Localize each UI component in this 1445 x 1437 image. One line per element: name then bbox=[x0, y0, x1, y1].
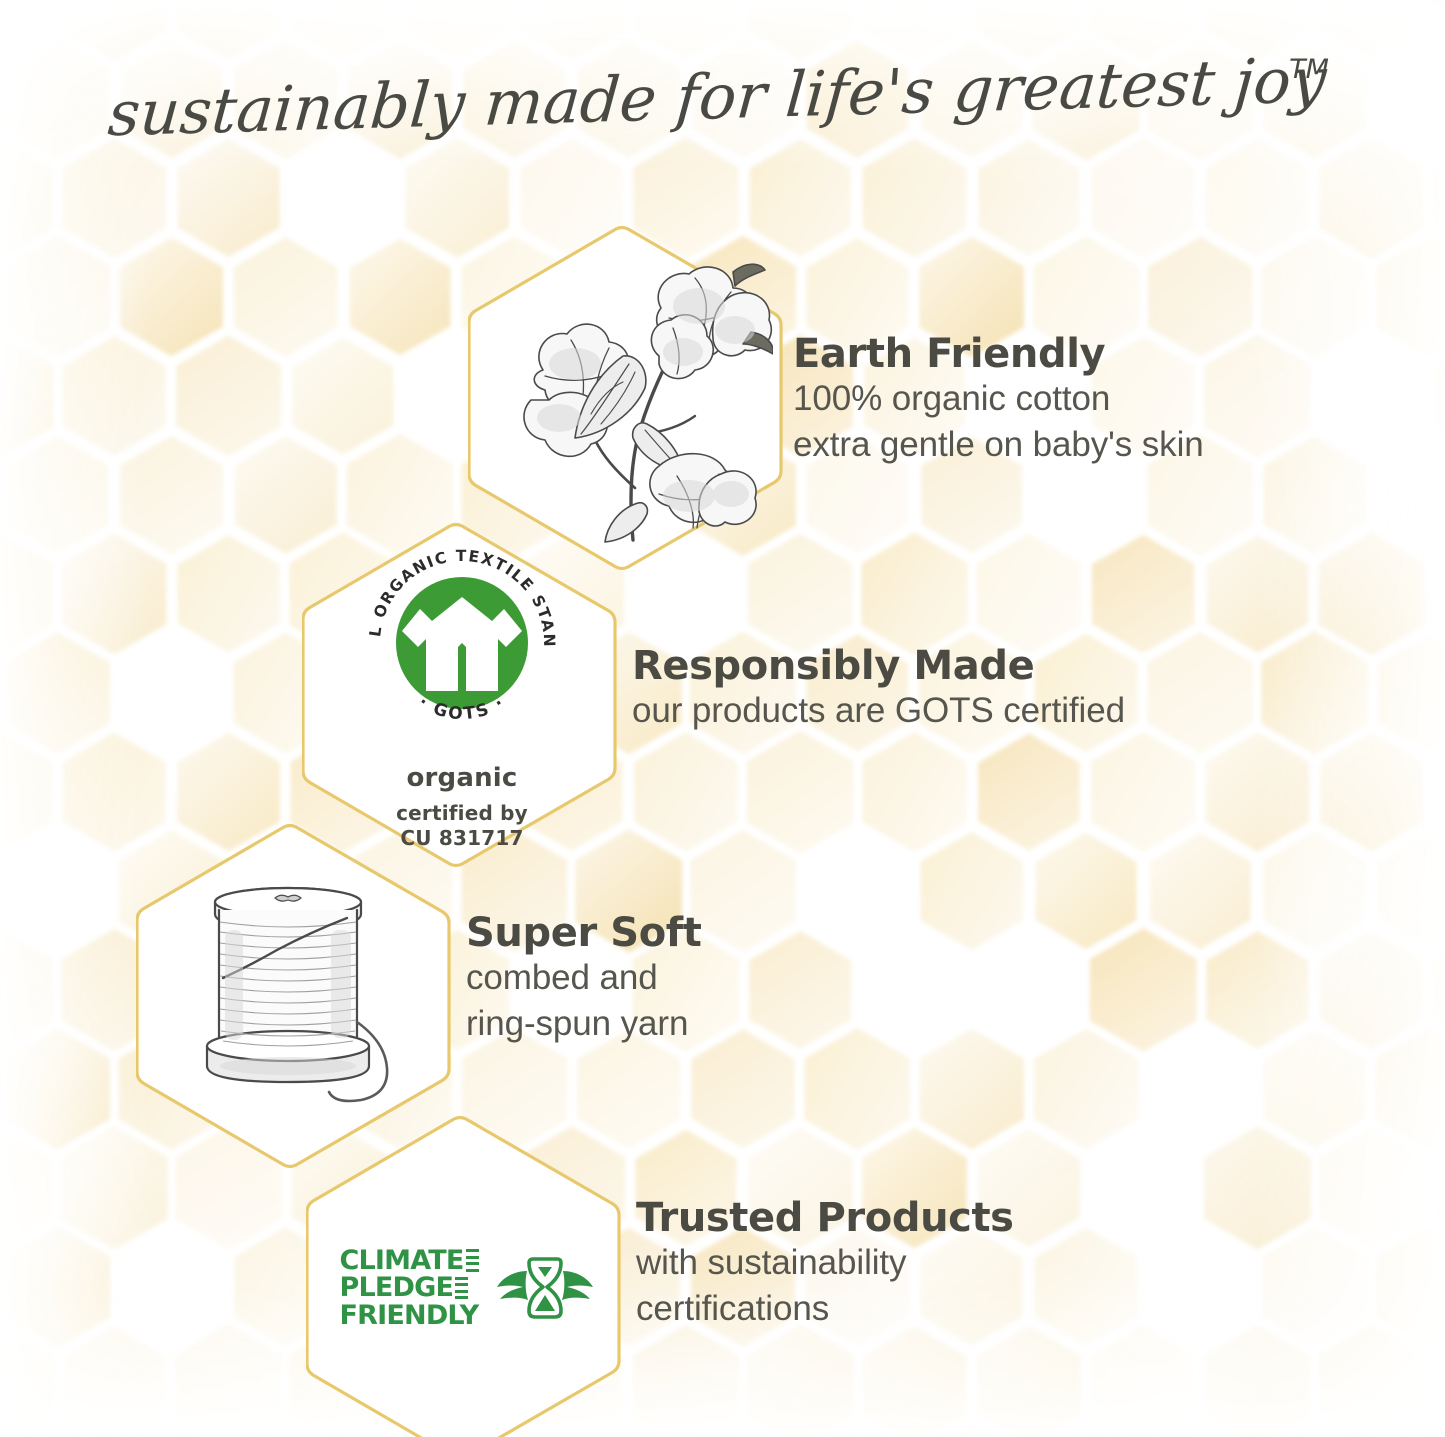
feature-copy-earth-friendly: Earth Friendly 100% organic cotton extra… bbox=[793, 333, 1204, 467]
gots-organic-label: organic bbox=[358, 763, 566, 793]
feature-line-2: ring-spun yarn bbox=[466, 1001, 702, 1047]
feature-line-1: 100% organic cotton bbox=[793, 376, 1204, 422]
feature-line-1: with sustainability bbox=[636, 1240, 1014, 1286]
feature-copy-trusted-products: Trusted Products with sustainability cer… bbox=[636, 1197, 1014, 1331]
climate-pledge-wordmark: CLIMATE PLEDGE FRIENDLY bbox=[340, 1247, 479, 1330]
cpf-bars-icon bbox=[466, 1249, 479, 1272]
gots-certified-by-label: certified by bbox=[358, 801, 566, 826]
feature-copy-responsibly-made: Responsibly Made our products are GOTS c… bbox=[632, 645, 1125, 734]
feature-title: Super Soft bbox=[466, 912, 702, 955]
cpf-line-1: CLIMATE bbox=[340, 1247, 464, 1275]
feature-line-1: our products are GOTS certified bbox=[632, 688, 1125, 734]
cpf-line-3: FRIENDLY bbox=[340, 1302, 479, 1330]
thread-spool-sketch-icon bbox=[146, 840, 446, 1140]
feature-title: Earth Friendly bbox=[793, 333, 1204, 376]
sustainability-infographic: sustainably made for life's greatest joy… bbox=[0, 0, 1445, 1437]
page-headline: sustainably made for life's greatest joy… bbox=[0, 44, 1445, 152]
gots-seal-icon: GLOBAL ORGANIC TEXTILE STANDARD · GOTS · bbox=[358, 539, 566, 747]
feature-title: Trusted Products bbox=[636, 1197, 1014, 1240]
trademark-symbol: TM bbox=[1289, 54, 1329, 85]
feature-line-1: combed and bbox=[466, 955, 702, 1001]
winged-hourglass-icon bbox=[497, 1251, 593, 1325]
feature-line-2: certifications bbox=[636, 1286, 1014, 1332]
climate-pledge-friendly-logo: CLIMATE PLEDGE FRIENDLY bbox=[316, 1182, 616, 1394]
feature-title: Responsibly Made bbox=[632, 645, 1125, 688]
cpf-line-2: PLEDGE bbox=[340, 1274, 454, 1302]
cotton-branch-sketch-icon bbox=[478, 238, 778, 558]
headline-text: sustainably made for life's greatest joy bbox=[105, 44, 1329, 150]
feature-copy-super-soft: Super Soft combed and ring-spun yarn bbox=[466, 912, 702, 1046]
feature-line-2: extra gentle on baby's skin bbox=[793, 422, 1204, 468]
cpf-bars-icon bbox=[455, 1277, 468, 1300]
gots-organic-certification-logo: GLOBAL ORGANIC TEXTILE STANDARD · GOTS ·… bbox=[312, 545, 612, 845]
